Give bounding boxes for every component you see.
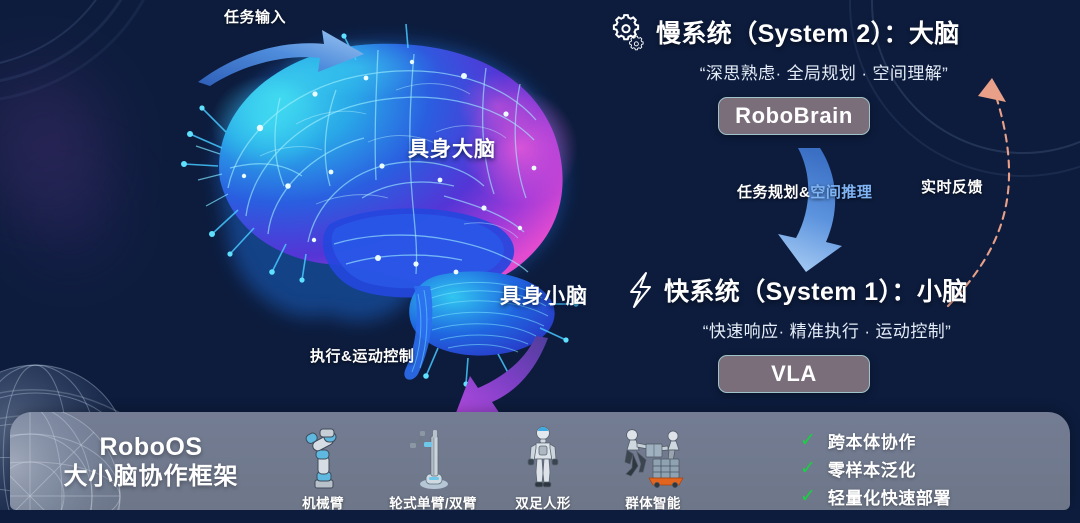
execution-arrow bbox=[396, 336, 556, 422]
roboos-panel: RoboOS 大小脑协作框架 bbox=[10, 412, 1070, 510]
system1-subtitle: “快速响应· 精准执行 · 运动控制” bbox=[646, 317, 1008, 342]
robot-caption: 轮式单臂/双臂 bbox=[389, 492, 477, 510]
panel-title-line2: 大小脑协作框架 bbox=[46, 462, 256, 492]
gear-icon bbox=[612, 12, 646, 52]
feature-label: 跨本体协作 bbox=[828, 428, 916, 453]
robot-caption: 群体智能 bbox=[625, 492, 681, 510]
system1-title-row: 快系统（System 1）：小脑 bbox=[626, 270, 1046, 310]
footer-strip bbox=[0, 510, 1080, 523]
task-input-arrow bbox=[196, 18, 376, 88]
feature-item: ✓ 轻量化快速部署 bbox=[800, 482, 951, 510]
robobrain-badge[interactable]: RoboBrain bbox=[718, 97, 870, 135]
check-icon: ✓ bbox=[800, 431, 816, 450]
robot-arm-icon bbox=[294, 424, 352, 490]
wheeled-arm-robot-icon bbox=[404, 424, 462, 490]
slide-canvas: 具身大脑 具身小脑 任务输入 执行&运动控制 bbox=[0, 0, 1080, 523]
system2-subtitle: “深思熟虑· 全局规划 · 空间理解” bbox=[638, 59, 1010, 84]
robot-caption: 机械臂 bbox=[302, 492, 344, 510]
task-planning-label: 任务规划&空间推理 bbox=[737, 181, 872, 202]
feature-label: 轻量化快速部署 bbox=[828, 484, 951, 509]
robot-item[interactable]: 群体智能 bbox=[598, 420, 708, 510]
feature-label: 零样本泛化 bbox=[828, 456, 916, 481]
system2-block: 慢系统（System 2）：大脑 “深思熟虑· 全局规划 · 空间理解” Rob… bbox=[612, 12, 1032, 135]
task-planning-arrow bbox=[772, 148, 882, 274]
humanoid-robot-icon bbox=[520, 424, 566, 490]
system1-block: 快系统（System 1）：小脑 “快速响应· 精准执行 · 运动控制” VLA bbox=[626, 270, 1046, 393]
feature-item: ✓ 零样本泛化 bbox=[800, 454, 951, 482]
top-left-arc-3 bbox=[0, 0, 166, 104]
robot-item[interactable]: 机械臂 bbox=[268, 420, 378, 510]
feature-item: ✓ 跨本体协作 bbox=[800, 426, 951, 454]
purple-glow-left-2 bbox=[10, 140, 130, 290]
vla-badge[interactable]: VLA bbox=[718, 355, 870, 393]
panel-title: RoboOS 大小脑协作框架 bbox=[46, 432, 256, 492]
top-left-arc-2 bbox=[0, 0, 146, 86]
system2-title: 慢系统（System 2）：大脑 bbox=[656, 14, 960, 50]
task-planning-label-part1: 任务规划& bbox=[737, 184, 810, 201]
robot-caption: 双足人形 bbox=[515, 492, 571, 510]
system2-title-row: 慢系统（System 2）：大脑 bbox=[612, 12, 1032, 52]
cerebrum-label: 具身大脑 bbox=[408, 133, 496, 163]
panel-title-line1: RoboOS bbox=[46, 432, 256, 462]
purple-glow-left bbox=[0, 60, 110, 260]
robot-item[interactable]: 双足人形 bbox=[488, 420, 598, 510]
lightning-icon bbox=[626, 270, 654, 310]
robot-item[interactable]: 轮式单臂/双臂 bbox=[378, 420, 488, 510]
cerebellum-label: 具身小脑 bbox=[500, 280, 588, 310]
system1-title: 快系统（System 1）：小脑 bbox=[664, 272, 968, 308]
task-input-label: 任务输入 bbox=[224, 6, 286, 27]
top-left-arc-1 bbox=[0, 0, 124, 69]
task-planning-label-part2: 空间推理 bbox=[810, 184, 872, 201]
check-icon: ✓ bbox=[800, 487, 816, 506]
check-icon: ✓ bbox=[800, 459, 816, 478]
swarm-robots-icon bbox=[615, 424, 691, 490]
feature-list: ✓ 跨本体协作 ✓ 零样本泛化 ✓ 轻量化快速部署 bbox=[800, 426, 951, 510]
execution-label: 执行&运动控制 bbox=[310, 345, 414, 366]
robot-type-list: 机械臂 bbox=[268, 420, 708, 510]
realtime-feedback-label: 实时反馈 bbox=[921, 176, 983, 197]
